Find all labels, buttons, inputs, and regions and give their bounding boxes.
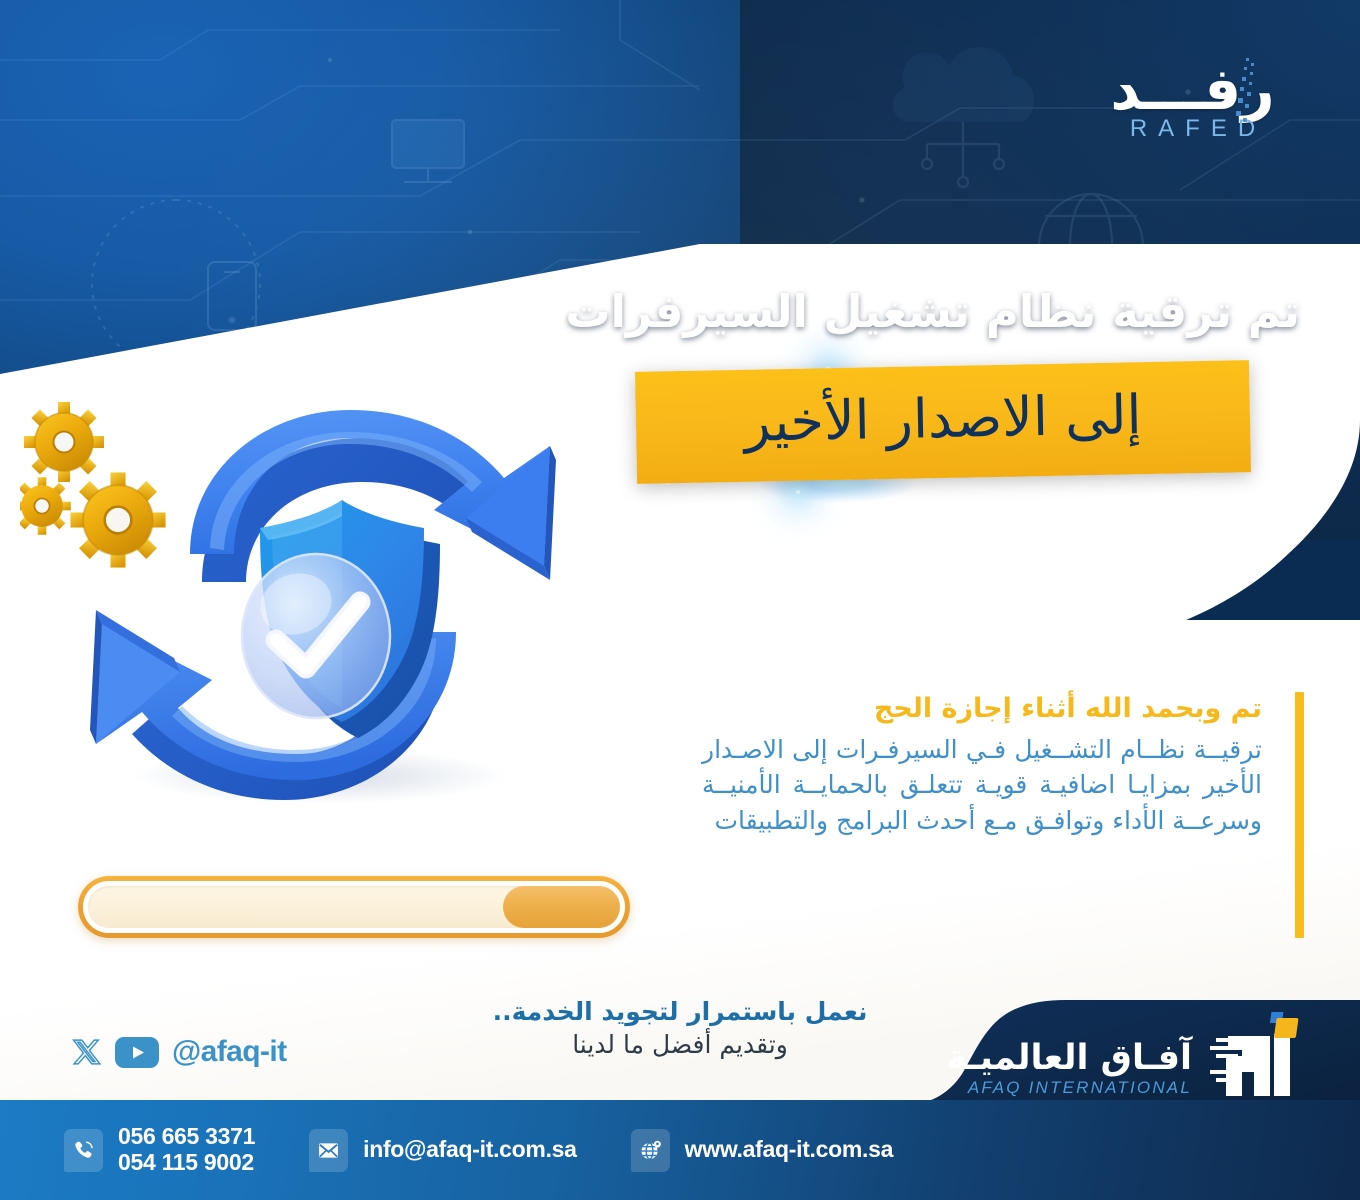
youtube-icon[interactable]	[115, 1037, 159, 1068]
afaq-logo: آفـاق العالميـة AFAQ INTERNATIONAL	[946, 1008, 1302, 1100]
globe-pin-icon	[631, 1129, 670, 1172]
footer-item-website[interactable]: www.afaq-it.com.sa	[631, 1129, 893, 1172]
footer-email-text: info@afaq-it.com.sa	[363, 1137, 577, 1163]
afaq-arabic-wordmark: آفـاق العالميـة	[946, 1040, 1192, 1077]
footer-website-text: www.afaq-it.com.sa	[685, 1137, 893, 1163]
footer-phone-line2: 054 115 9002	[118, 1150, 255, 1176]
headline-yellow-banner: إلى الاصدار الأخير	[635, 360, 1251, 484]
footer-phone-text: 056 665 3371 054 115 9002	[118, 1124, 255, 1176]
afaq-wordmarks: آفـاق العالميـة AFAQ INTERNATIONAL	[946, 1040, 1192, 1100]
envelope-icon	[309, 1129, 348, 1172]
headline-line1: تم ترقية نظام تشغيل السيرفرات	[560, 285, 1300, 338]
glow-sparkle-bottom	[796, 490, 800, 494]
afaq-logo-mark	[1206, 1008, 1302, 1100]
progress-track	[88, 886, 620, 928]
refresh-cycle-illustration	[20, 398, 640, 818]
footer-phone-line1: 056 665 3371	[118, 1123, 255, 1149]
yellow-accent-bar	[1295, 692, 1304, 938]
rafed-logo: رفـــد RAFED	[1085, 62, 1300, 143]
x-twitter-icon[interactable]	[72, 1037, 102, 1067]
afaq-latin-wordmark: AFAQ INTERNATIONAL	[946, 1078, 1192, 1098]
rafed-arabic-wordmark: رفـــد	[1085, 62, 1300, 117]
body-paragraph: ترقيــة نظــام التشــغيل فـي السيرفـرات …	[702, 732, 1262, 839]
body-heading: تم وبحمد الله أثناء إجازة الحج	[702, 692, 1262, 726]
social-row: @afaq-it	[72, 1035, 286, 1069]
gear-cluster	[20, 402, 166, 568]
phone-icon	[64, 1129, 103, 1172]
upgrade-progress-bar[interactable]	[78, 876, 630, 938]
poster-canvas: رفـــد RAFED تم ترقية نظام تشغيل السيرفر…	[0, 0, 1360, 1200]
announcement-body: تم وبحمد الله أثناء إجازة الحج ترقيــة ن…	[702, 692, 1262, 838]
progress-inner-frame	[83, 881, 625, 933]
footer-item-phone[interactable]: 056 665 3371 054 115 9002	[64, 1124, 255, 1176]
progress-fill	[503, 886, 620, 928]
footer-item-email[interactable]: info@afaq-it.com.sa	[309, 1129, 577, 1172]
footer-items: 056 665 3371 054 115 9002 info@afaq-it.c…	[0, 1124, 893, 1176]
social-handle[interactable]: @afaq-it	[172, 1035, 286, 1069]
rafed-dot-accent	[1224, 56, 1264, 136]
footer-contact-bar: 056 665 3371 054 115 9002 info@afaq-it.c…	[0, 1100, 1360, 1200]
headline-banner-text: إلى الاصدار الأخير	[744, 388, 1142, 456]
